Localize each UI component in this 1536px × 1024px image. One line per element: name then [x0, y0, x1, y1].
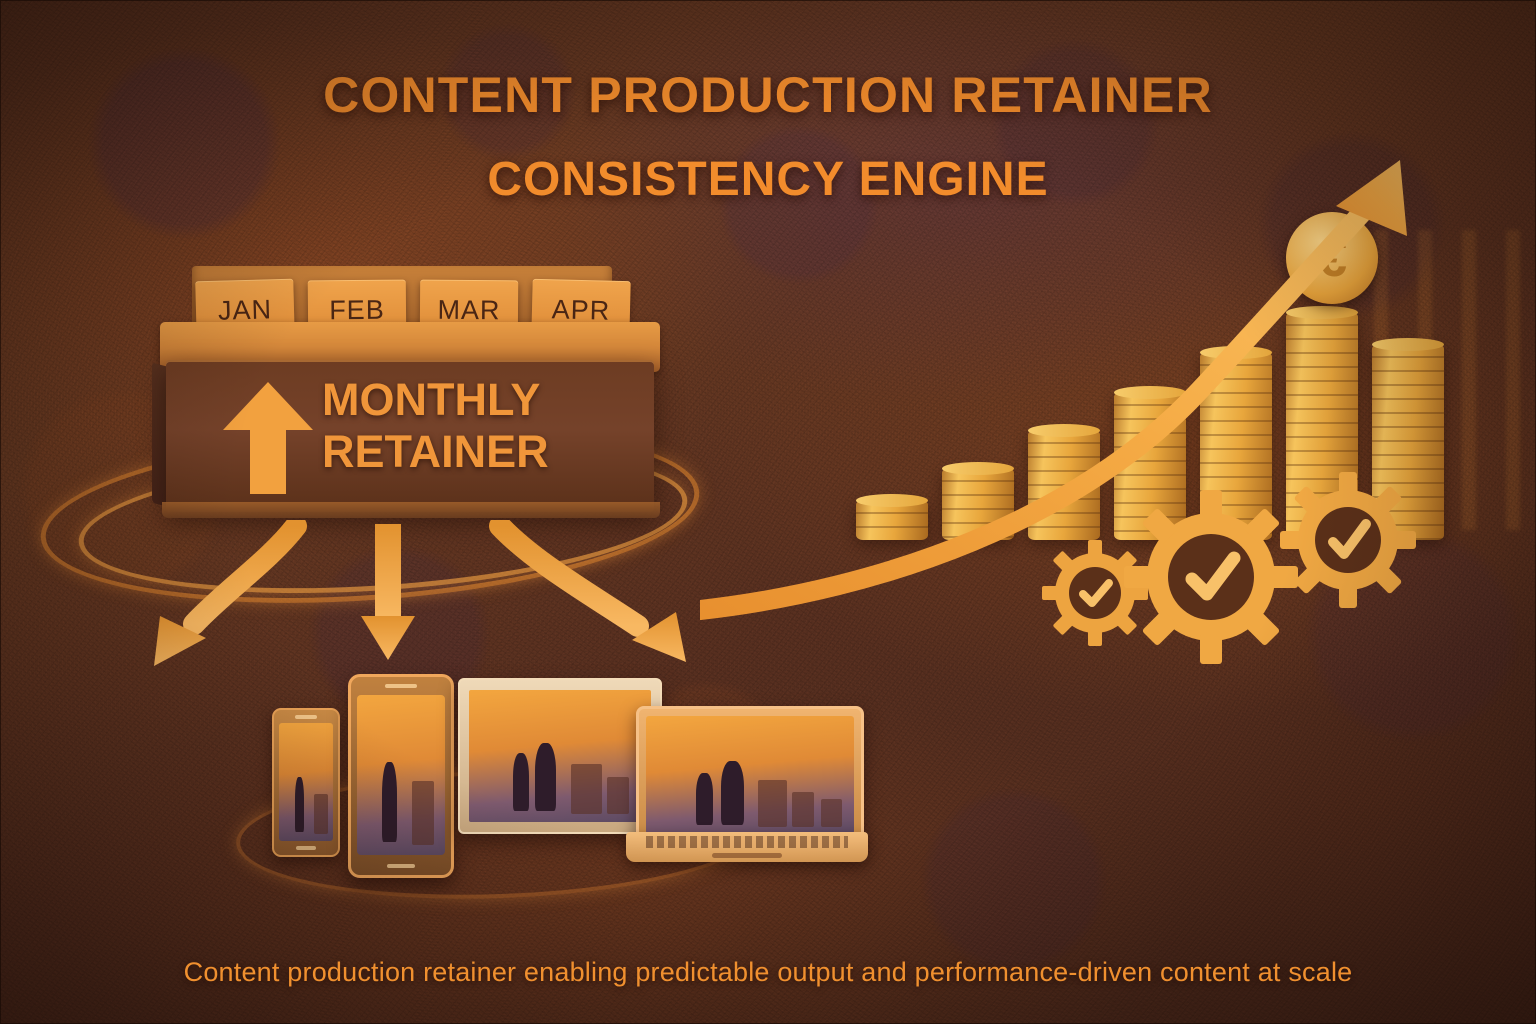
device-group [258, 660, 898, 860]
month-tab-label: MAR [437, 294, 500, 325]
tablet-screen [469, 690, 651, 822]
caption-text: Content production retainer enabling pre… [0, 957, 1536, 988]
laptop-trackpad [712, 853, 782, 858]
phone-small[interactable] [272, 708, 340, 857]
laptop-lid [636, 706, 864, 844]
page-title: CONTENT PRODUCTION RETAINER [0, 66, 1536, 124]
box-label: MONTHLY RETAINER [322, 374, 652, 478]
arrow-straight-down [361, 524, 415, 660]
laptop[interactable] [626, 706, 868, 874]
gear-cluster [1030, 460, 1430, 680]
infographic-canvas: CONTENT PRODUCTION RETAINER CONSISTENCY … [0, 0, 1536, 1024]
laptop-screen [646, 716, 854, 834]
gear-medium-right [1278, 470, 1418, 610]
arrow-up-icon [214, 382, 324, 494]
arrow-right-curve [500, 526, 686, 662]
monthly-retainer-box: JAN FEB MAR APR MONTHLY RETAINER [152, 262, 668, 534]
box-label-line2: RETAINER [322, 426, 652, 478]
box-bottom-lip [162, 502, 660, 518]
arrow-left-curve [154, 526, 296, 666]
laptop-keyboard [646, 836, 848, 848]
gear-large-center [1122, 488, 1300, 666]
phone-large-screen [357, 695, 445, 855]
phone-large[interactable] [348, 674, 454, 878]
box-label-line1: MONTHLY [322, 374, 652, 426]
phone-small-screen [279, 723, 333, 841]
